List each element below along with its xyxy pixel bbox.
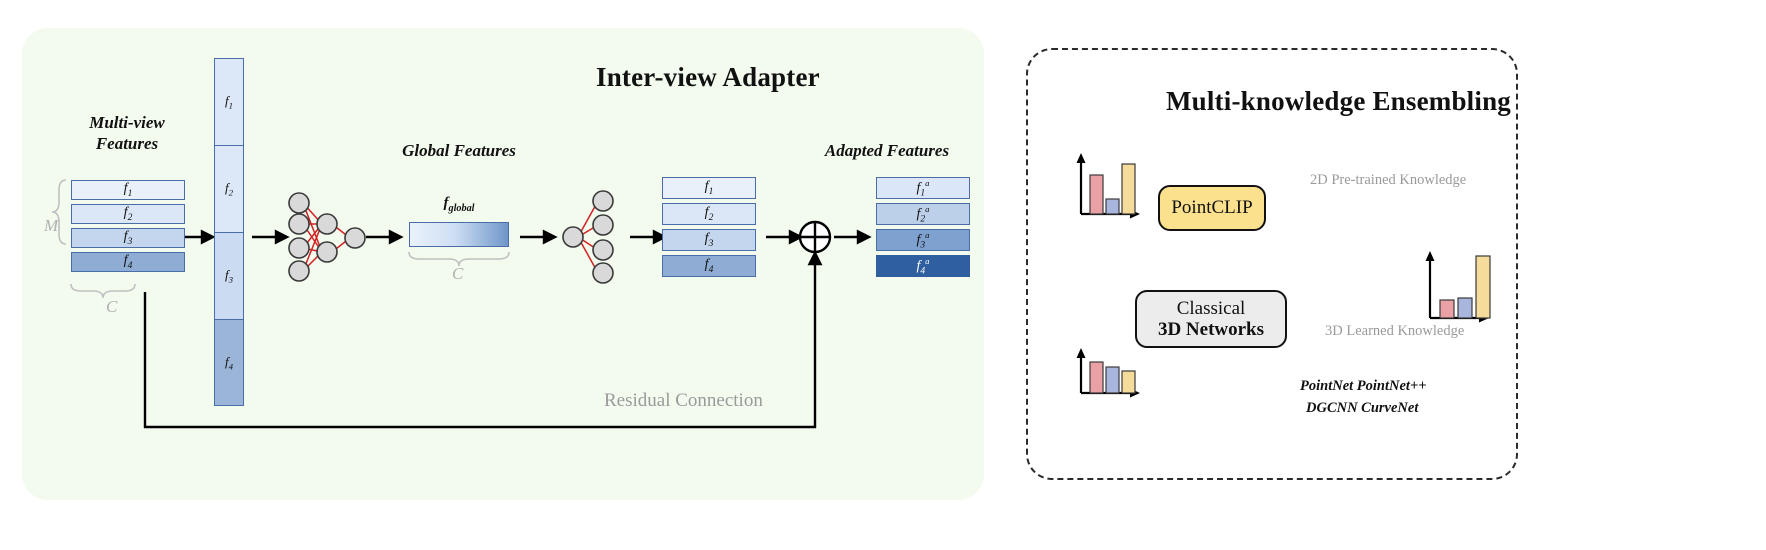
- classical-input-chart: [1077, 348, 1141, 398]
- classical-label-line1: Classical: [1177, 298, 1246, 319]
- model-names-line1: PointNet PointNet++: [1300, 375, 1426, 397]
- pointclip-input-chart: [1077, 153, 1141, 219]
- mini-charts-layer: [0, 0, 1766, 550]
- model-names-list: PointNet PointNet++ DGCNN CurveNet: [1300, 375, 1426, 420]
- classical-label: Classical 3D Networks: [1158, 298, 1264, 341]
- classical-label-line2: 3D Networks: [1158, 319, 1264, 340]
- classical-3d-networks-button[interactable]: Classical 3D Networks: [1135, 290, 1287, 348]
- pointclip-label: PointCLIP: [1171, 197, 1252, 218]
- ensembled-output-chart: [1426, 251, 1491, 323]
- pointclip-button[interactable]: PointCLIP: [1158, 185, 1266, 231]
- knowledge-label-3d: 3D Learned Knowledge: [1325, 323, 1464, 340]
- model-names-line2: DGCNN CurveNet: [1306, 397, 1426, 419]
- knowledge-label-2d: 2D Pre-trained Knowledge: [1310, 172, 1466, 189]
- diagram-canvas: Inter-view Adapter Multi-view Features: [0, 0, 1766, 550]
